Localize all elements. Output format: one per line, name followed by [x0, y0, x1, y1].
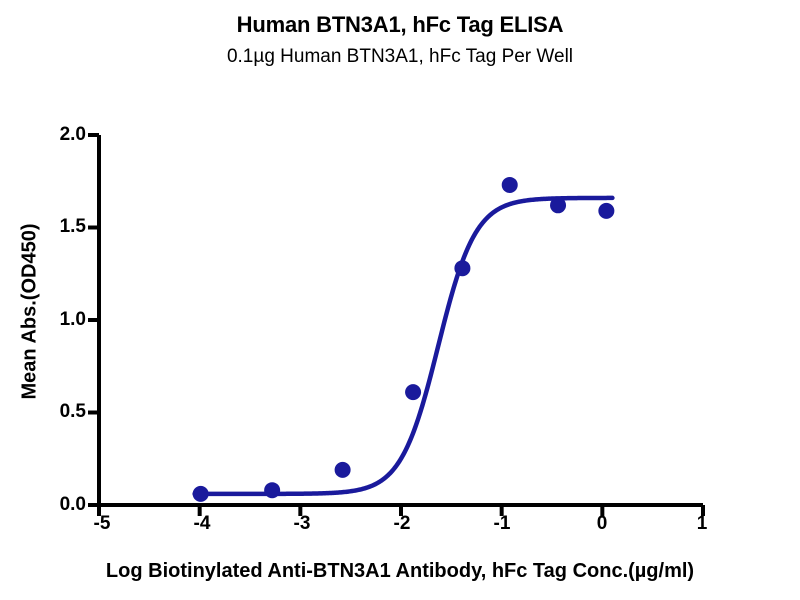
axes — [99, 135, 703, 505]
data-point — [502, 177, 518, 193]
plot-area — [0, 0, 800, 600]
chart-figure: Human BTN3A1, hFc Tag ELISA 0.1µg Human … — [0, 0, 800, 600]
data-point — [193, 486, 209, 502]
data-point — [335, 462, 351, 478]
data-point — [598, 203, 614, 219]
data-point — [550, 197, 566, 213]
data-point — [405, 384, 421, 400]
fit-curve — [195, 198, 613, 494]
data-point — [264, 482, 280, 498]
data-point — [454, 260, 470, 276]
